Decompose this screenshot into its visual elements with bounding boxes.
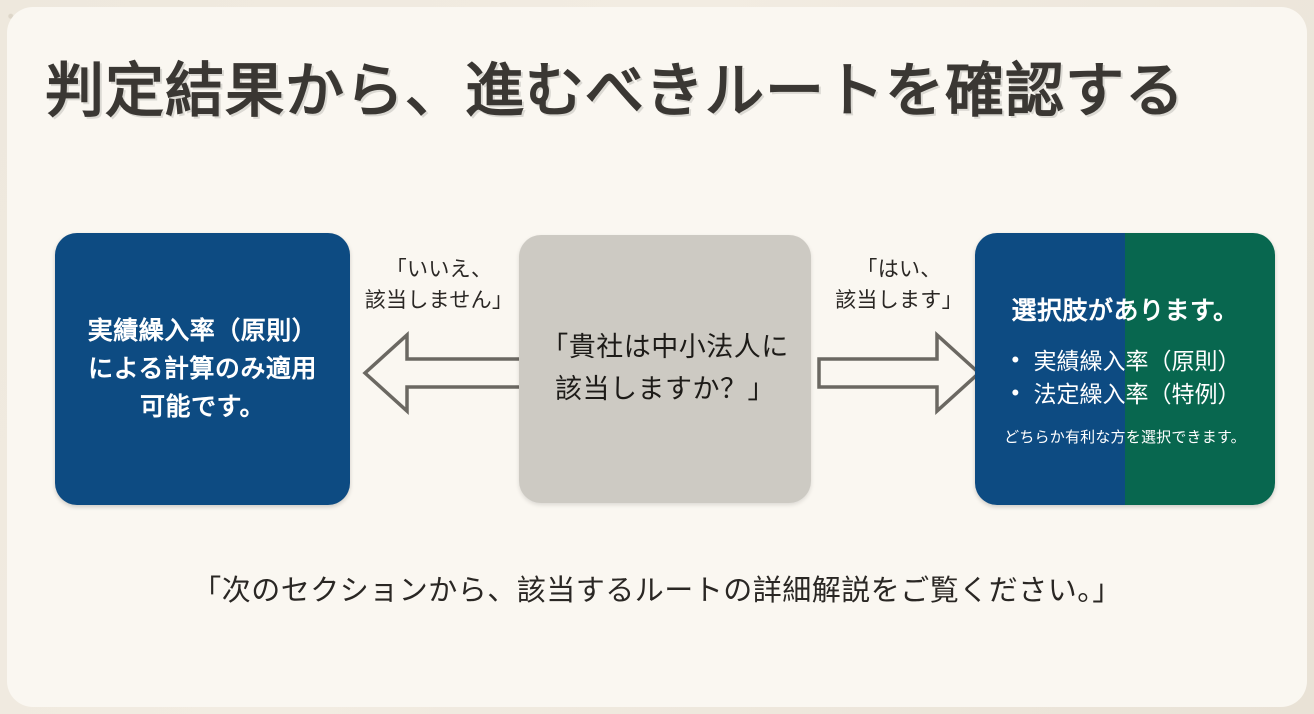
arrow-left-label-line2: 該当しません」 — [339, 285, 539, 316]
list-item: 法定繰入率（特例） — [1010, 378, 1241, 411]
page-title: 判定結果から、進むべきルートを確認する — [45, 43, 1245, 128]
bottom-caption: 「次のセクションから、該当するルートの詳細解説をご覧ください。」 — [7, 567, 1307, 609]
arrow-right-label-line1: 「はい、 — [799, 254, 999, 285]
flow-box-left-outcome: 実績繰入率（原則）による計算のみ適用可能です。 — [55, 233, 350, 505]
arrow-right-label: 「はい、 該当します」 — [799, 254, 999, 316]
arrow-left-label: 「いいえ、 該当しません」 — [339, 254, 539, 316]
arrow-left-label-line1: 「いいえ、 — [339, 254, 539, 285]
arrow-right — [817, 325, 987, 421]
arrow-right-icon — [817, 325, 987, 421]
flow-box-center-question: 「貴社は中小法人に該当しますか？」 — [519, 235, 811, 503]
arrow-left — [357, 325, 527, 421]
arrow-right-label-line2: 該当します」 — [799, 285, 999, 316]
arrow-left-icon — [357, 325, 527, 421]
right-outcome-note: どちらか有利な方を選択できます。 — [1004, 426, 1246, 447]
right-outcome-bullet-list: 実績繰入率（原則） 法定繰入率（特例） — [1010, 345, 1241, 410]
slide-card: 判定結果から、進むべきルートを確認する 実績繰入率（原則）による計算のみ適用可能… — [7, 7, 1307, 707]
center-question-text: 「貴社は中小法人に該当しますか？」 — [519, 327, 811, 411]
right-outcome-content: 選択肢があります。 実績繰入率（原則） 法定繰入率（特例） どちらか有利な方を選… — [975, 233, 1275, 505]
flow-box-right-outcome: 選択肢があります。 実績繰入率（原則） 法定繰入率（特例） どちらか有利な方を選… — [975, 233, 1275, 505]
left-outcome-text: 実績繰入率（原則）による計算のみ適用可能です。 — [55, 312, 350, 426]
list-item: 実績繰入率（原則） — [1010, 345, 1241, 378]
right-outcome-heading: 選択肢があります。 — [1011, 291, 1238, 327]
